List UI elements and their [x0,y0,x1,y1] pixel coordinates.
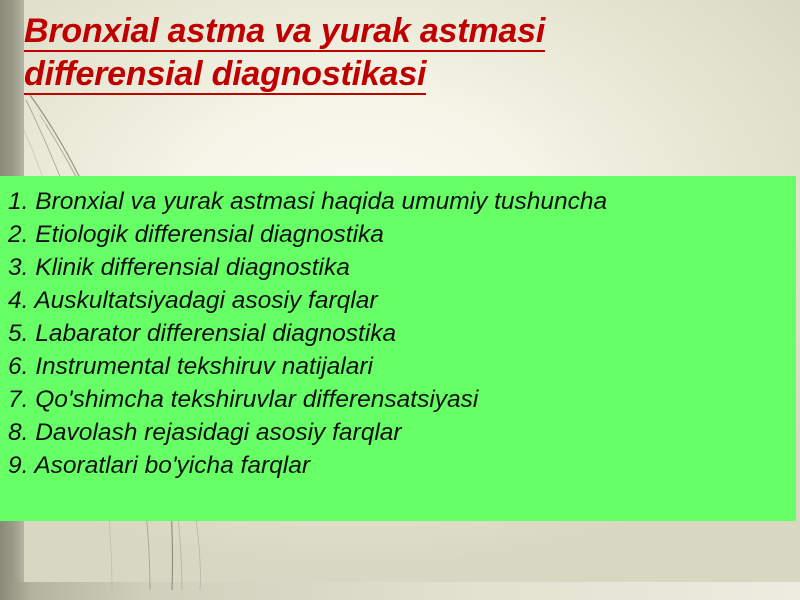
agenda-list: 1. Bronxial va yurak astmasi haqida umum… [0,176,796,482]
list-item: 4. Auskultatsiyadagi asosiy farqlar [8,285,796,318]
content-panel: 1. Bronxial va yurak astmasi haqida umum… [0,176,796,521]
slide-title-line-1: Bronxial astma va yurak astmasi [24,12,545,52]
list-item: 5. Labarator differensial diagnostika [8,318,796,351]
list-item: 8. Davolash rejasidagi asosiy farqlar [8,417,796,450]
list-item: 7. Qo'shimcha tekshiruvlar differensatsi… [8,384,796,417]
list-item: 2. Etiologik differensial diagnostika [8,219,796,252]
slide: Bronxial astma va yurak astmasi differen… [0,0,800,600]
bottom-decorative-strip [0,582,800,600]
slide-title: Bronxial astma va yurak astmasi differen… [24,10,784,95]
list-item: 1. Bronxial va yurak astmasi haqida umum… [8,186,796,219]
slide-title-line-2: differensial diagnostikasi [24,55,426,95]
list-item: 6. Instrumental tekshiruv natijalari [8,351,796,384]
list-item: 9. Asoratlari bo'yicha farqlar [8,450,796,483]
list-item: 3. Klinik differensial diagnostika [8,252,796,285]
